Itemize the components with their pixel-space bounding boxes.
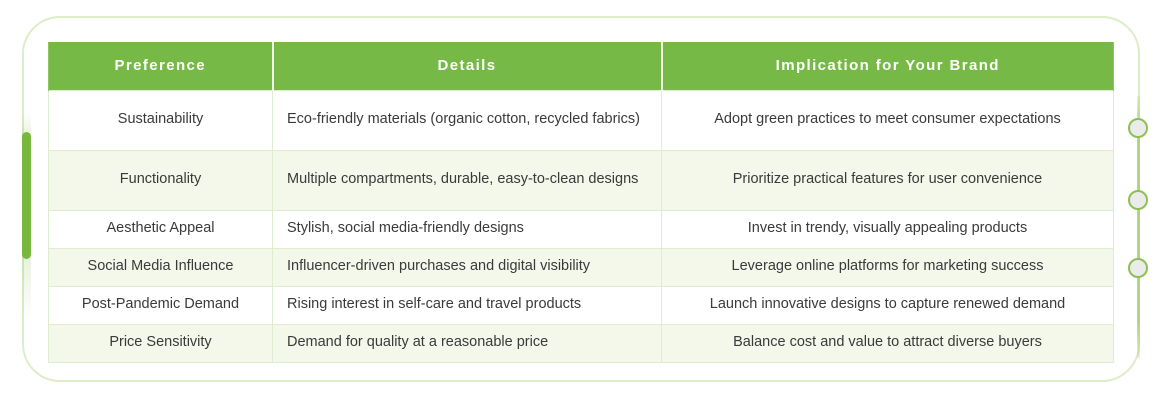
cell-preference: Aesthetic Appeal xyxy=(49,210,273,248)
timeline-node-2[interactable] xyxy=(1128,190,1148,210)
vertical-scrollbar-thumb[interactable] xyxy=(22,132,31,259)
table-row: Aesthetic Appeal Stylish, social media-f… xyxy=(49,210,1114,248)
cell-details: Multiple compartments, durable, easy-to-… xyxy=(273,150,662,210)
cell-implication: Launch innovative designs to capture ren… xyxy=(662,286,1114,324)
table-header: Preference Details Implication for Your … xyxy=(49,42,1114,90)
cell-details: Rising interest in self-care and travel … xyxy=(273,286,662,324)
cell-implication: Invest in trendy, visually appealing pro… xyxy=(662,210,1114,248)
column-header-implication: Implication for Your Brand xyxy=(662,42,1114,90)
cell-implication: Prioritize practical features for user c… xyxy=(662,150,1114,210)
page-canvas: Preference Details Implication for Your … xyxy=(0,0,1161,400)
cell-details: Influencer-driven purchases and digital … xyxy=(273,248,662,286)
table-row: Post-Pandemic Demand Rising interest in … xyxy=(49,286,1114,324)
cell-preference: Functionality xyxy=(49,150,273,210)
cell-preference: Sustainability xyxy=(49,90,273,150)
column-header-details: Details xyxy=(273,42,662,90)
cell-implication: Leverage online platforms for marketing … xyxy=(662,248,1114,286)
cell-details: Eco-friendly materials (organic cotton, … xyxy=(273,90,662,150)
cell-preference: Post-Pandemic Demand xyxy=(49,286,273,324)
cell-implication: Balance cost and value to attract divers… xyxy=(662,324,1114,362)
table-row: Sustainability Eco-friendly materials (o… xyxy=(49,90,1114,150)
timeline-node-3[interactable] xyxy=(1128,258,1148,278)
preferences-table: Preference Details Implication for Your … xyxy=(48,42,1114,363)
cell-preference: Social Media Influence xyxy=(49,248,273,286)
timeline-node-1[interactable] xyxy=(1128,118,1148,138)
column-header-preference: Preference xyxy=(49,42,273,90)
cell-details: Demand for quality at a reasonable price xyxy=(273,324,662,362)
table-body: Sustainability Eco-friendly materials (o… xyxy=(49,90,1114,362)
cell-details: Stylish, social media-friendly designs xyxy=(273,210,662,248)
cell-implication: Adopt green practices to meet consumer e… xyxy=(662,90,1114,150)
table-row: Social Media Influence Influencer-driven… xyxy=(49,248,1114,286)
table-row: Functionality Multiple compartments, dur… xyxy=(49,150,1114,210)
cell-preference: Price Sensitivity xyxy=(49,324,273,362)
table-header-row: Preference Details Implication for Your … xyxy=(49,42,1114,90)
preferences-table-container: Preference Details Implication for Your … xyxy=(48,42,1113,363)
table-row: Price Sensitivity Demand for quality at … xyxy=(49,324,1114,362)
